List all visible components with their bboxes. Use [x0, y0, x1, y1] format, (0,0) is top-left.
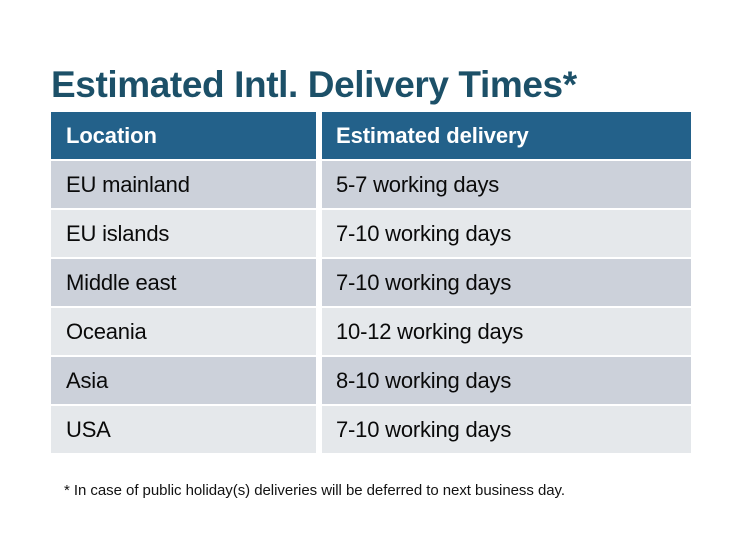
cell-location-text: EU islands	[66, 223, 169, 245]
page-title: Estimated Intl. Delivery Times*	[51, 63, 577, 107]
cell-location-text: USA	[66, 419, 111, 441]
cell-delivery: 7-10 working days	[322, 406, 691, 453]
cell-delivery-text: 7-10 working days	[336, 223, 511, 245]
column-header-delivery-label: Estimated delivery	[336, 125, 529, 147]
column-header-delivery: Estimated delivery	[322, 112, 691, 159]
cell-delivery-text: 7-10 working days	[336, 419, 511, 441]
cell-location-text: EU mainland	[66, 174, 190, 196]
cell-delivery-text: 7-10 working days	[336, 272, 511, 294]
cell-location-text: Asia	[66, 370, 108, 392]
cell-location: EU islands	[51, 210, 316, 257]
cell-delivery: 5-7 working days	[322, 161, 691, 208]
cell-location: EU mainland	[51, 161, 316, 208]
table-header-row: Location Estimated delivery	[51, 112, 691, 159]
delivery-times-page: Estimated Intl. Delivery Times* Location…	[0, 0, 745, 536]
cell-location: Asia	[51, 357, 316, 404]
table-row: EU islands 7-10 working days	[51, 210, 691, 257]
table-row: USA 7-10 working days	[51, 406, 691, 453]
cell-delivery-text: 8-10 working days	[336, 370, 511, 392]
column-header-location: Location	[51, 112, 316, 159]
footnote: * In case of public holiday(s) deliverie…	[64, 481, 565, 501]
cell-location-text: Oceania	[66, 321, 147, 343]
table-row: EU mainland 5-7 working days	[51, 161, 691, 208]
cell-delivery: 8-10 working days	[322, 357, 691, 404]
cell-delivery: 7-10 working days	[322, 259, 691, 306]
cell-location: Oceania	[51, 308, 316, 355]
table-row: Oceania 10-12 working days	[51, 308, 691, 355]
cell-delivery-text: 10-12 working days	[336, 321, 523, 343]
cell-location: Middle east	[51, 259, 316, 306]
table-row: Asia 8-10 working days	[51, 357, 691, 404]
column-header-location-label: Location	[66, 125, 157, 147]
delivery-times-table: Location Estimated delivery EU mainland …	[51, 112, 691, 453]
cell-delivery: 10-12 working days	[322, 308, 691, 355]
cell-delivery-text: 5-7 working days	[336, 174, 499, 196]
table-row: Middle east 7-10 working days	[51, 259, 691, 306]
cell-location-text: Middle east	[66, 272, 176, 294]
cell-delivery: 7-10 working days	[322, 210, 691, 257]
cell-location: USA	[51, 406, 316, 453]
